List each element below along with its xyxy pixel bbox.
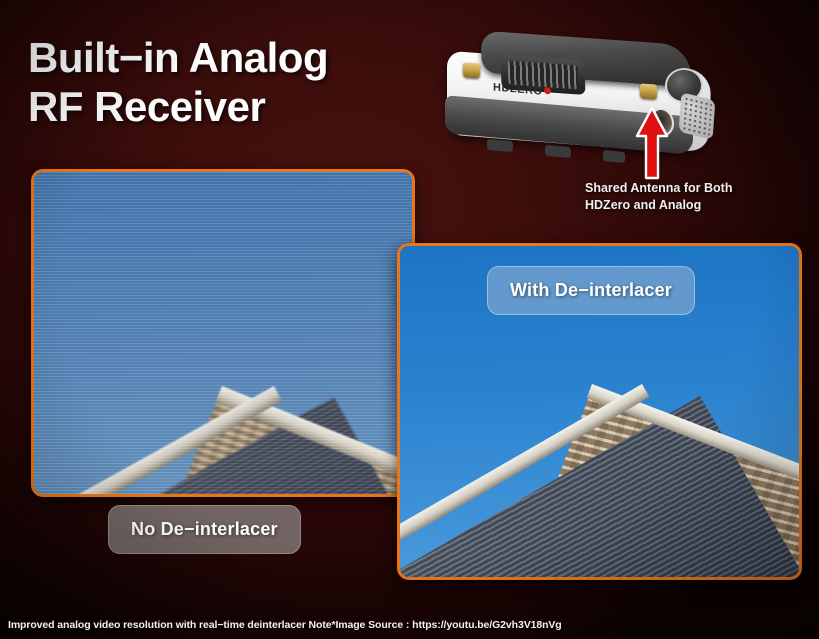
antenna-caption-line-1: Shared Antenna for Both [585, 180, 732, 197]
badge-no-deinterlacer: No De−interlacer [108, 505, 301, 554]
goggles-foot [545, 145, 571, 158]
scene-no-deinterlacer [34, 172, 412, 494]
goggles-foot [603, 150, 625, 163]
title-line-1: Built−in Analog [28, 33, 448, 82]
page-title: Built−in Analog RF Receiver [28, 33, 448, 131]
red-up-arrow-icon [635, 106, 669, 182]
comparison-panel-no-deinterlacer [31, 169, 415, 497]
badge-with-deinterlacer: With De−interlacer [487, 266, 695, 315]
antenna-connector-right [640, 83, 657, 99]
interlace-artifact-overlay [34, 172, 412, 494]
goggles-product-image: HDZERO [437, 22, 727, 182]
title-line-2: RF Receiver [28, 82, 448, 131]
speaker-grille-icon [679, 92, 716, 140]
antenna-caption: Shared Antenna for Both HDZero and Analo… [585, 180, 732, 213]
goggles-foot [487, 139, 513, 152]
slide-root: Built−in Analog RF Receiver HDZERO Share… [0, 0, 819, 639]
hdzero-logo-dot [544, 87, 551, 95]
footer-note: Improved analog video resolution with re… [8, 619, 562, 631]
antenna-connector-left [463, 62, 480, 78]
antenna-caption-line-2: HDZero and Analog [585, 197, 732, 214]
